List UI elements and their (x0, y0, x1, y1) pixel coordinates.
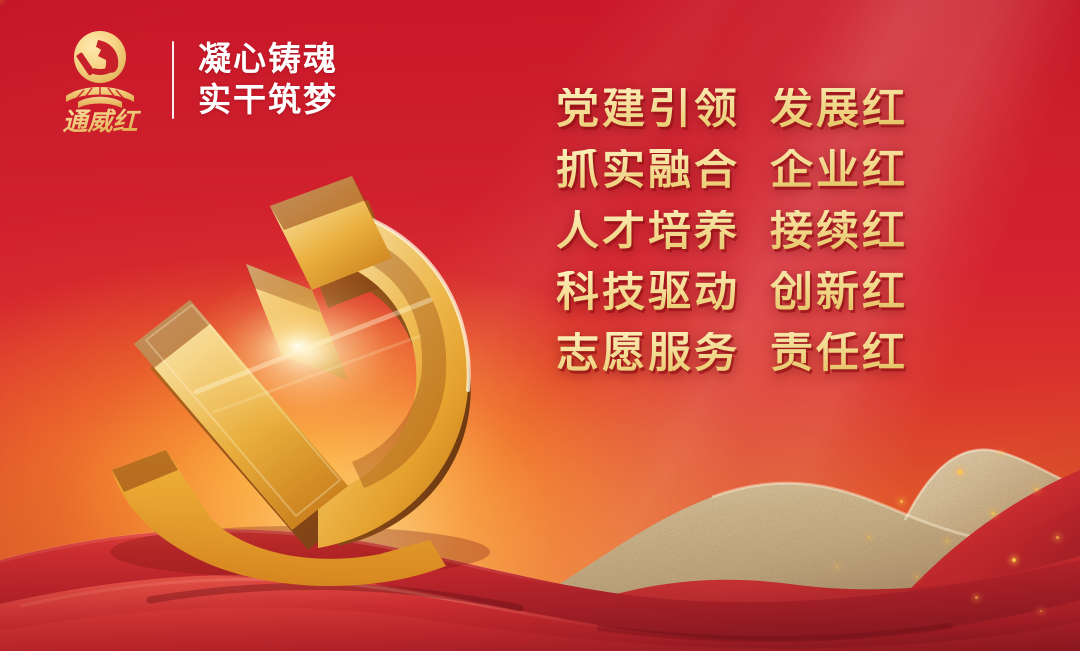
slogan-left: 党建引领 (556, 88, 740, 131)
brand-divider (172, 41, 174, 119)
tagline-line-1: 凝心铸魂 (198, 41, 338, 78)
slogan-right: 创新红 (770, 271, 908, 314)
poster-canvas: 通威红 凝心铸魂 实干筑梦 党建引领 发展红 抓实融合 企业红 人才培养 接续红… (0, 0, 1080, 651)
fan-rays-ornament (66, 87, 134, 108)
slogan-left: 人才培养 (556, 210, 740, 253)
slogan-row: 抓实融合 企业红 (556, 149, 908, 192)
logo-wordmark: 通威红 (62, 108, 141, 136)
party-emblem-circle-icon: 通威红 (48, 24, 152, 136)
brand-lockup: 通威红 凝心铸魂 实干筑梦 (48, 24, 338, 136)
slogan-row: 志愿服务 责任红 (556, 332, 908, 375)
slogan-left: 抓实融合 (556, 149, 740, 192)
slogan-right: 接续红 (770, 210, 908, 253)
slogan-row: 科技驱动 创新红 (556, 271, 908, 314)
slogan-right: 责任红 (770, 332, 908, 375)
slogan-row: 人才培养 接续红 (556, 210, 908, 253)
tagline-line-2: 实干筑梦 (198, 82, 338, 119)
slogan-list: 党建引领 发展红 抓实融合 企业红 人才培养 接续红 科技驱动 创新红 志愿服务… (556, 88, 908, 375)
slogan-row: 党建引领 发展红 (556, 88, 908, 131)
slogan-left: 科技驱动 (556, 271, 740, 314)
slogan-left: 志愿服务 (556, 332, 740, 375)
slogan-right: 企业红 (770, 149, 908, 192)
slogan-right: 发展红 (770, 88, 908, 131)
brand-tagline: 凝心铸魂 实干筑梦 (198, 41, 338, 119)
